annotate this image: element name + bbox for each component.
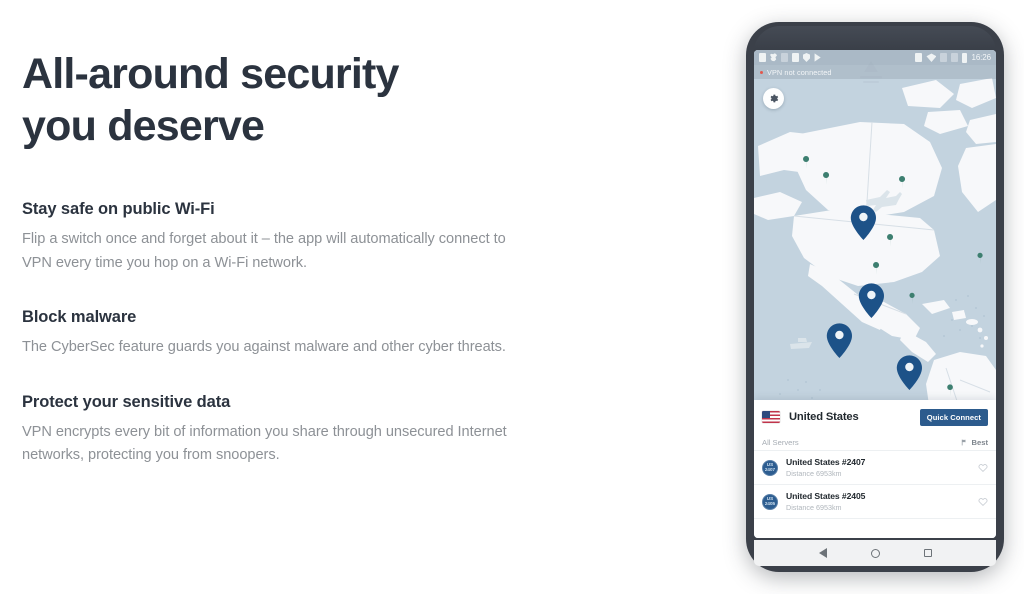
panel-subheader: All Servers Best <box>754 434 996 451</box>
badge-server-number: 2407 <box>765 468 775 473</box>
feature-body: Flip a switch once and forget about it –… <box>22 228 522 275</box>
feature-title: Protect your sensitive data <box>22 393 522 412</box>
server-badge-icon: US 2407 <box>762 460 778 476</box>
battery-icon <box>962 53 967 63</box>
heart-outline-icon[interactable] <box>978 463 988 473</box>
person-icon <box>759 53 766 62</box>
sort-control[interactable]: Best <box>961 438 988 447</box>
play-icon <box>814 53 821 62</box>
back-triangle-icon[interactable] <box>819 548 827 558</box>
vpn-status-banner: VPN not connected <box>754 65 996 79</box>
bluetooth-icon <box>915 53 922 62</box>
status-bar: 16:26 <box>754 50 996 65</box>
status-bar-left-icons <box>759 53 821 62</box>
heart-outline-icon[interactable] <box>978 497 988 507</box>
marketing-copy: All-around security you deserve Stay saf… <box>22 48 522 468</box>
server-panel: United States Quick Connect All Servers … <box>754 400 996 538</box>
feature-title: Stay safe on public Wi-Fi <box>22 200 522 219</box>
feature-title: Block malware <box>22 308 522 327</box>
status-dot-icon <box>760 71 763 74</box>
quick-connect-button[interactable]: Quick Connect <box>920 409 988 426</box>
vpn-status-text: VPN not connected <box>767 68 832 77</box>
headline-line-2: you deserve <box>22 102 264 150</box>
signal-icon <box>951 53 958 62</box>
wifi-icon <box>926 53 936 62</box>
gear-icon <box>768 93 779 104</box>
shield-icon <box>803 53 810 62</box>
settings-button[interactable] <box>763 88 784 109</box>
home-circle-icon[interactable] <box>871 549 880 558</box>
document-icon <box>781 53 788 62</box>
android-nav-bar <box>754 540 996 566</box>
feature-body: VPN encrypts every bit of information yo… <box>22 421 522 468</box>
server-distance: Distance 6953km <box>786 503 865 512</box>
feature-block-malware: Block malware The CyberSec feature guard… <box>22 308 522 360</box>
us-flag-icon <box>762 411 780 423</box>
feature-block-data: Protect your sensitive data VPN encrypts… <box>22 393 522 468</box>
phone-mockup: 16:26 VPN not connected United States Qu… <box>746 22 1004 572</box>
recents-square-icon[interactable] <box>924 549 932 557</box>
server-list-item[interactable]: US 2405 United States #2405 Distance 695… <box>754 485 996 519</box>
signal-icon <box>940 53 947 62</box>
headline-line-1: All-around security <box>22 50 399 98</box>
server-distance: Distance 6953km <box>786 469 865 478</box>
feature-body: The CyberSec feature guards you against … <box>22 336 522 360</box>
page-title: All-around security you deserve <box>22 48 522 153</box>
server-info: United States #2405 Distance 6953km <box>786 491 865 512</box>
panel-header: United States Quick Connect <box>754 400 996 434</box>
status-bar-clock: 16:26 <box>971 53 991 62</box>
feature-block-wifi: Stay safe on public Wi-Fi Flip a switch … <box>22 200 522 275</box>
server-name: United States #2407 <box>786 457 865 467</box>
all-servers-label: All Servers <box>762 438 799 447</box>
sort-label: Best <box>972 438 988 447</box>
status-bar-right-icons: 16:26 <box>915 53 991 63</box>
phone-screen: 16:26 VPN not connected United States Qu… <box>754 50 996 538</box>
server-info: United States #2407 Distance 6953km <box>786 457 865 478</box>
promo-page: All-around security you deserve Stay saf… <box>0 0 1024 594</box>
photo-icon <box>792 53 799 62</box>
sort-flag-icon <box>961 439 968 446</box>
selected-country-label: United States <box>789 411 859 423</box>
twitter-icon <box>770 53 777 62</box>
server-badge-icon: US 2405 <box>762 494 778 510</box>
server-list-item[interactable]: US 2407 United States #2407 Distance 695… <box>754 451 996 485</box>
server-name: United States #2405 <box>786 491 865 501</box>
badge-server-number: 2405 <box>765 502 775 507</box>
